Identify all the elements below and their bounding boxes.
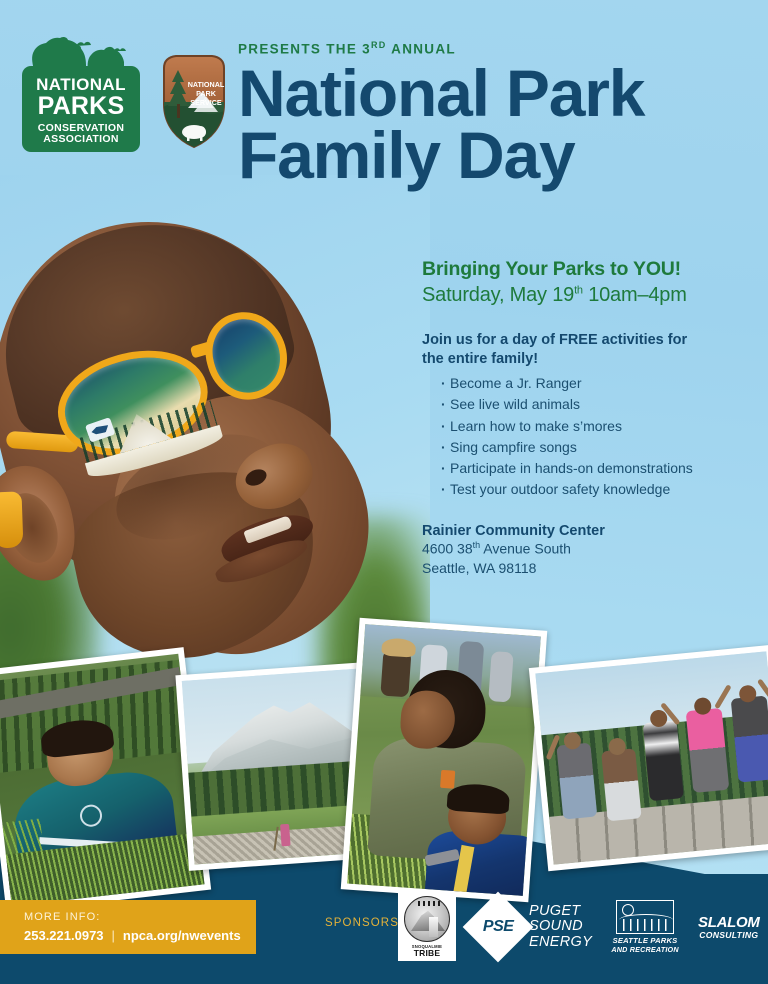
page-title: National Park Family Day — [238, 62, 758, 186]
join-us-text: Join us for a day of FREE activities for… — [422, 331, 752, 368]
collage-photo-ranger — [341, 618, 548, 902]
collage-photo-jumping-kids — [529, 645, 768, 871]
npca-wordmark-box: NATIONAL PARKS CONSERVATION ASSOCIATION — [22, 66, 140, 152]
hiker-figure — [280, 824, 291, 847]
join-line-1: Join us for a day of FREE activities for — [422, 332, 687, 348]
child-figure — [556, 743, 597, 820]
more-info-bar: MORE INFO: 253.221.0973 | npca.org/nweve… — [0, 900, 256, 954]
boy-head — [0, 220, 352, 650]
venue-name: Rainier Community Center — [422, 523, 752, 539]
sponsor-name-line-1: SEATTLE PARKS — [613, 936, 678, 945]
npca-logo[interactable]: NATIONAL PARKS CONSERVATION ASSOCIATION — [22, 34, 140, 152]
venue-address: 4600 38th Avenue South Seattle, WA 98118 — [422, 539, 752, 578]
list-item: See live wild animals — [441, 394, 752, 415]
date-suffix: 10am–4pm — [583, 284, 687, 306]
photo-content — [347, 624, 541, 896]
list-item: Test your outdoor safety knowledge — [441, 479, 752, 500]
list-item: Learn how to make s’mores — [441, 416, 752, 437]
address-street-suffix: Avenue South — [480, 540, 571, 556]
date-ordinal: th — [574, 284, 583, 296]
presents-tail: ANNUAL — [387, 42, 456, 57]
sponsor-logos: SNOQUALMIE TRIBE PSE PUGET SOUND ENERGY … — [398, 892, 760, 962]
seal-dots — [418, 901, 440, 906]
svg-text:NATIONAL: NATIONAL — [188, 80, 225, 89]
more-info-label: MORE INFO: — [24, 911, 256, 923]
website-link[interactable]: npca.org/nwevents — [123, 928, 241, 943]
photo-content — [0, 654, 205, 906]
child-figure — [601, 748, 642, 821]
sponsor-name-line-2: AND RECREATION — [611, 945, 678, 954]
address-city-state-zip: Seattle, WA 98118 — [422, 560, 536, 576]
photo-collage — [0, 590, 768, 910]
address-ordinal: th — [473, 540, 481, 550]
pse-monogram: PSE — [483, 918, 514, 936]
presents-line: PRESENTS THE 3RD ANNUAL — [238, 40, 758, 57]
organization-logos: NATIONAL PARKS CONSERVATION ASSOCIATION — [22, 34, 230, 152]
list-item: Participate in hands-on demonstrations — [441, 458, 752, 479]
title-block: PRESENTS THE 3RD ANNUAL National Park Fa… — [238, 40, 758, 186]
seal-mountain — [411, 909, 445, 931]
tagline: Bringing Your Parks to YOU! — [422, 258, 752, 281]
seal-waterfall — [429, 917, 438, 937]
sponsor-logo-snoqualmie-tribe[interactable]: SNOQUALMIE TRIBE — [398, 893, 456, 961]
child-figure — [686, 708, 730, 793]
address-street-prefix: 4600 38 — [422, 540, 473, 556]
pse-diamond-icon: PSE — [463, 892, 534, 963]
join-line-2: the entire family! — [422, 351, 538, 367]
sponsor-name-line-2: CONSULTING — [699, 931, 758, 940]
sponsors-label: SPONSORS: — [325, 917, 403, 929]
pse-line-1: PUGET — [529, 904, 592, 919]
date-prefix: Saturday, May 19 — [422, 284, 574, 306]
phone-number[interactable]: 253.221.0973 — [24, 928, 104, 943]
crowd-figure — [488, 651, 513, 702]
npca-line-3: CONSERVATION — [38, 123, 124, 134]
npca-line-1: NATIONAL — [36, 76, 126, 93]
list-item: Become a Jr. Ranger — [441, 373, 752, 394]
nps-logo[interactable]: NATIONAL PARK SERVICE — [158, 52, 230, 150]
uniform-patch — [440, 770, 455, 789]
activities-list: Become a Jr. Ranger See live wild animal… — [422, 373, 752, 501]
event-datetime: Saturday, May 19th 10am–4pm — [422, 284, 752, 307]
sponsor-logo-slalom-consulting[interactable]: SLALOM CONSULTING — [698, 915, 760, 940]
people-icon — [623, 919, 669, 931]
bear-and-cub-icon — [22, 34, 140, 70]
event-details: Bringing Your Parks to YOU! Saturday, Ma… — [422, 258, 752, 578]
poster-canvas: NATIONAL PARKS CONSERVATION ASSOCIATION — [0, 0, 768, 984]
presents-ordinal: RD — [371, 40, 387, 50]
pse-line-3: ENERGY — [529, 935, 592, 950]
svg-text:SERVICE: SERVICE — [190, 98, 222, 107]
temple-far — [0, 491, 23, 548]
npca-line-2: PARKS — [38, 94, 125, 119]
parks-rec-icon — [616, 900, 674, 934]
photo-content — [535, 651, 768, 864]
npca-line-4: ASSOCIATION — [43, 134, 118, 145]
title-line-2: Family Day — [238, 124, 758, 186]
presents-text: PRESENTS THE 3 — [238, 42, 371, 57]
sponsor-name-line-1: SLALOM — [698, 915, 760, 930]
pse-line-2: SOUND — [529, 919, 592, 934]
sponsor-logo-seattle-parks-and-recreation[interactable]: SEATTLE PARKS AND RECREATION — [609, 900, 681, 954]
arrowhead-icon: NATIONAL PARK SERVICE — [158, 52, 230, 150]
sponsor-logo-puget-sound-energy[interactable]: PSE PUGET SOUND ENERGY — [473, 902, 592, 952]
svg-text:PARK: PARK — [196, 89, 217, 98]
list-item: Sing campfire songs — [441, 437, 752, 458]
contact-row: 253.221.0973 | npca.org/nwevents — [24, 928, 256, 943]
pse-wordmark: PUGET SOUND ENERGY — [529, 904, 592, 949]
sponsor-name-line-2: TRIBE — [414, 949, 441, 958]
tribe-seal-icon — [404, 896, 450, 942]
separator: | — [112, 928, 115, 943]
